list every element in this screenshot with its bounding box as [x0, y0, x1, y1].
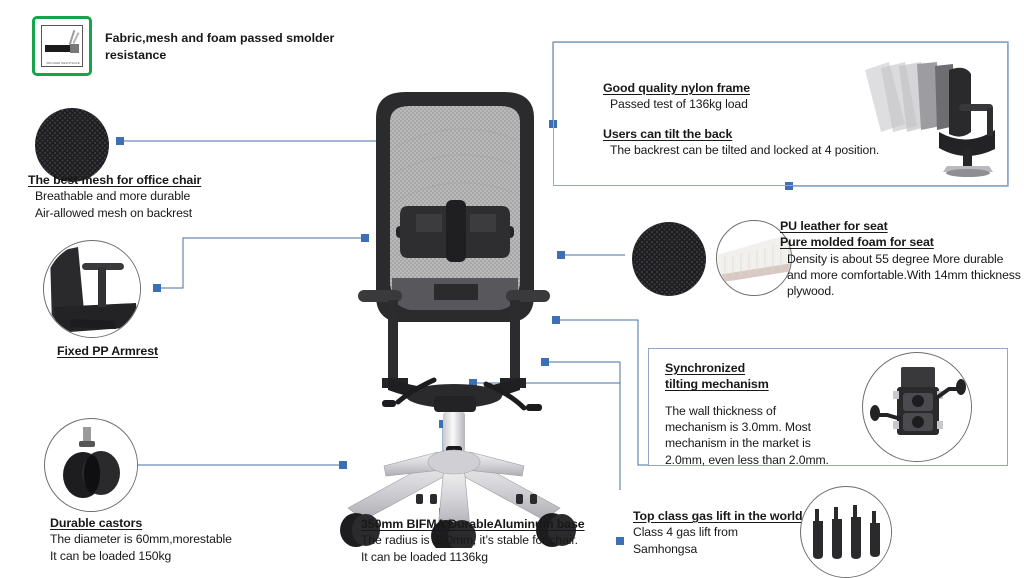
- feature-mechanism-line-4: 2.0mm, even less than 2.0mm.: [665, 452, 855, 468]
- tilting-mechanism-photo-circle: [862, 352, 972, 462]
- feature-mechanism-line-1: The wall thickness of: [665, 403, 855, 419]
- tilt-sequence-photo: [855, 60, 995, 180]
- feature-base: 350mm BIFMA DurableAluminum base The rad…: [361, 516, 651, 565]
- feature-castors-heading: Durable castors: [50, 515, 265, 531]
- feature-mesh-line-1: Breathable and more durable: [28, 188, 243, 204]
- feature-seat: PU leather for seat Pure molded foam for…: [780, 218, 1024, 300]
- armrest-photo-circle: [43, 240, 141, 338]
- feature-base-line-2: It can be loaded 1136kg: [361, 549, 651, 565]
- tilting-mechanism-photo: [863, 353, 972, 462]
- marker-armrest-left: [153, 284, 161, 292]
- gas-lift-cylinders-circle: [800, 486, 892, 578]
- mesh-swatch-circle: [35, 108, 109, 182]
- feature-castors-line-1: The diameter is 60mm,morestable: [50, 531, 265, 547]
- feature-mesh-line-2: Air-allowed mesh on backrest: [28, 205, 243, 221]
- feature-seat-heading-1: PU leather for seat: [780, 218, 1024, 234]
- feature-seat-line-1: Density is about 55 degree More durable: [780, 251, 1024, 267]
- lumbar-support: [396, 200, 514, 262]
- badge-caption: SMOLDER RESISTANCE: [44, 62, 82, 65]
- castor-photo: [45, 419, 138, 512]
- marker-mesh-left: [116, 137, 124, 145]
- feature-base-heading: 350mm BIFMA DurableAluminum base: [361, 516, 651, 532]
- cigarette-smolder-icon: SMOLDER RESISTANCE: [41, 25, 83, 67]
- tilt-sequence-illustration: [855, 60, 995, 180]
- feature-mechanism-heading-1: Synchronized: [665, 360, 855, 376]
- armrest-photo: [44, 241, 141, 338]
- smolder-resistance-text: Fabric,mesh and foam passed smolder resi…: [105, 30, 335, 63]
- feature-seat-line-2: and more comfortable.With 14mm thickness: [780, 267, 1024, 283]
- cigarette-body-icon: [45, 45, 71, 52]
- feature-mesh: The best mesh for office chair Breathabl…: [28, 172, 243, 221]
- feature-gas-lift-line-1: Class 4 gas lift from: [633, 524, 823, 540]
- infographic-canvas: SMOLDER RESISTANCE Fabric,mesh and foam …: [0, 0, 1024, 576]
- feature-mesh-heading: The best mesh for office chair: [28, 172, 243, 188]
- gas-lift-photo: [801, 487, 892, 578]
- cigarette-tip-icon: [70, 44, 79, 53]
- feature-mechanism-heading-2: tilting mechanism: [665, 376, 855, 392]
- feature-armrest-heading: Fixed PP Armrest: [57, 343, 158, 359]
- pu-leather-swatch-circle: [632, 222, 706, 296]
- feature-castors-line-2: It can be loaded 150kg: [50, 548, 265, 564]
- feature-gas-lift-heading: Top class gas lift in the world: [633, 508, 823, 524]
- feature-base-line-1: The radius is 350mm, it’s stable for cha…: [361, 532, 651, 548]
- feature-seat-line-3: plywood.: [780, 283, 1024, 299]
- smolder-resistance-badge: SMOLDER RESISTANCE: [32, 16, 92, 76]
- feature-mechanism-line-3: mechanism in the market is: [665, 435, 855, 451]
- feature-seat-heading-2: Pure molded foam for seat: [780, 234, 1024, 250]
- feature-gas-lift-line-2: Samhongsa: [633, 541, 823, 557]
- feature-armrest: Fixed PP Armrest: [57, 343, 158, 359]
- castor-photo-circle: [44, 418, 138, 512]
- feature-mechanism-line-2: mechanism is 3.0mm. Most: [665, 419, 855, 435]
- feature-gas-lift: Top class gas lift in the world Class 4 …: [633, 508, 823, 557]
- feature-castors: Durable castors The diameter is 60mm,mor…: [50, 515, 265, 564]
- feature-mechanism: Synchronized tilting mechanism The wall …: [665, 360, 855, 468]
